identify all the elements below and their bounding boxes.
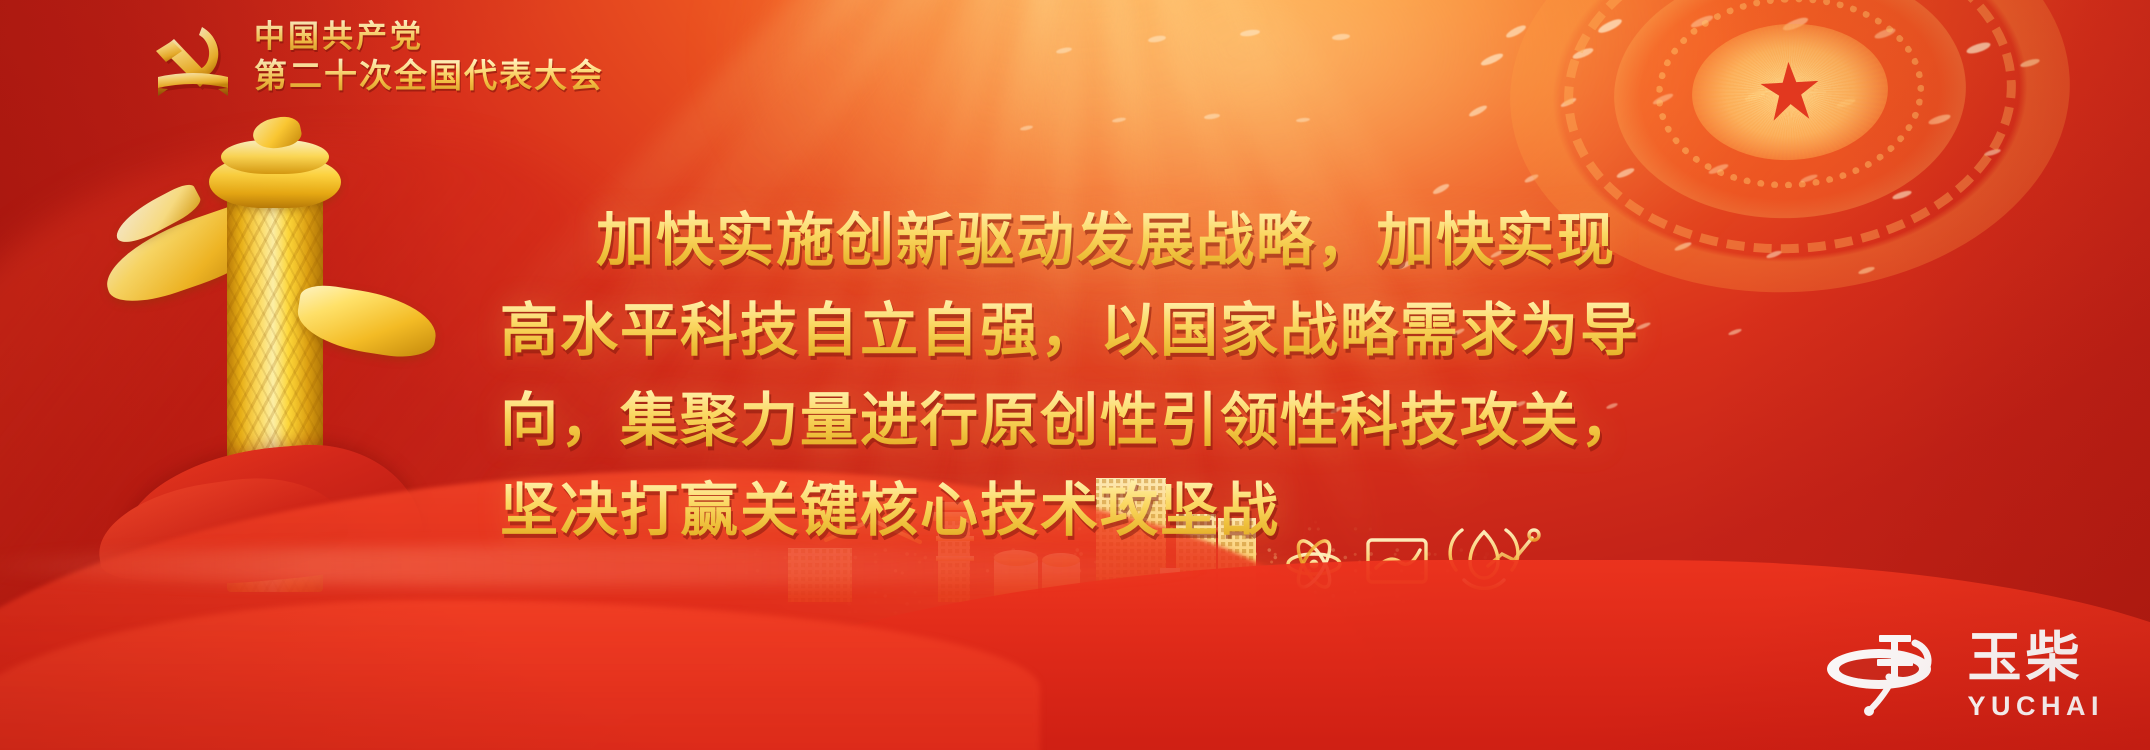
slogan-line-4: 坚决打赢关键核心技术攻坚战	[500, 466, 1720, 556]
hammer-and-sickle-emblem-icon	[150, 17, 236, 99]
yuchai-ellipse-mark-icon	[1823, 629, 1949, 721]
low-building-icon	[788, 548, 852, 602]
yuchai-name-en: YUCHAI	[1967, 693, 2104, 720]
yuchai-logo: 玉柴 YUCHAI	[1823, 626, 2104, 724]
congress-title-line-1: 中国共产党	[254, 19, 604, 55]
congress-header-lockup: 中国共产党 第二十次全国代表大会	[150, 12, 604, 104]
slogan-line-3: 向，集聚力量进行原创性引领性科技攻关，	[500, 376, 1720, 466]
congress-banner: 中国共产党 第二十次全国代表大会 加快实施创新驱动发展战略，加快实现 高水平科技…	[0, 0, 2150, 750]
huabiao-column	[105, 130, 435, 610]
slogan-line-2: 高水平科技自立自强，以国家战略需求为导	[500, 286, 1720, 376]
congress-title-line-2: 第二十次全国代表大会	[254, 57, 604, 95]
yuchai-wordmark: 玉柴 YUCHAI	[1967, 630, 2104, 719]
congress-title-block: 中国共产党 第二十次全国代表大会	[254, 19, 604, 97]
slogan-line-1: 加快实施创新驱动发展战略，加快实现	[500, 196, 1720, 286]
slogan-block: 加快实施创新驱动发展战略，加快实现 高水平科技自立自强，以国家战略需求为导 向，…	[500, 196, 1720, 556]
storage-tank-icon	[994, 550, 1080, 602]
yuchai-name-cn: 玉柴	[1967, 630, 2083, 686]
